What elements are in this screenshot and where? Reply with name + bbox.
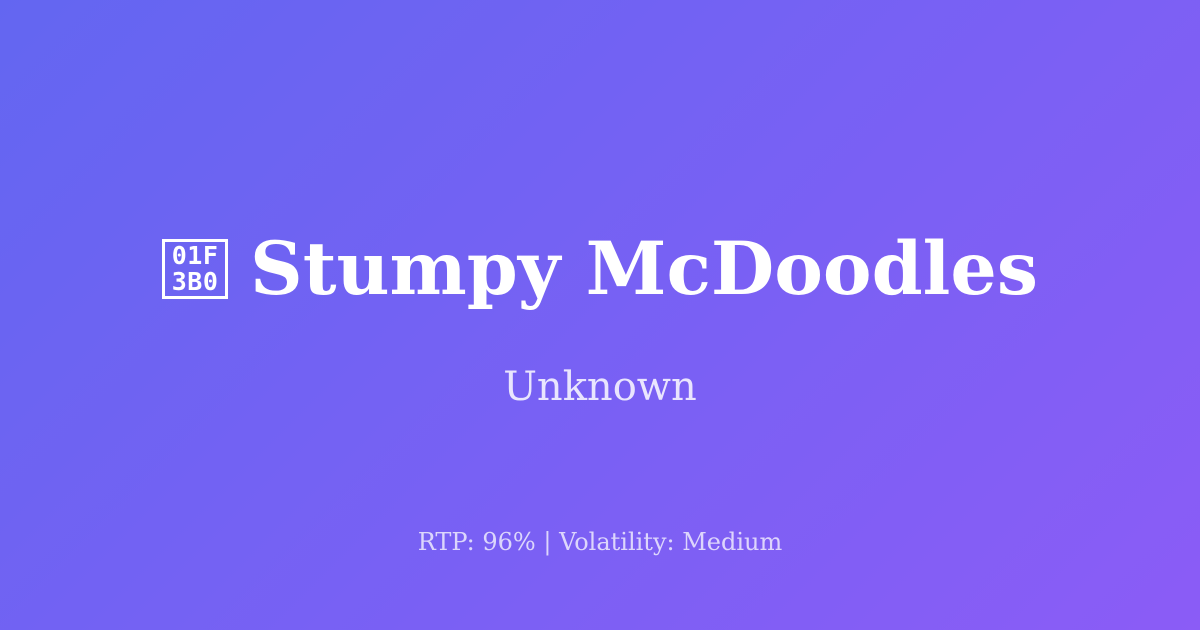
title-row: 01F 3B0 Stumpy McDoodles bbox=[0, 226, 1200, 312]
tofu-codepoint-line-1: 01F bbox=[172, 243, 219, 269]
page-title: Stumpy McDoodles bbox=[250, 226, 1038, 312]
provider-subtitle: Unknown bbox=[0, 362, 1200, 412]
game-stats: RTP: 96% | Volatility: Medium bbox=[0, 526, 1200, 558]
og-card: 01F 3B0 Stumpy McDoodles Unknown RTP: 96… bbox=[0, 0, 1200, 630]
slot-machine-icon: 01F 3B0 bbox=[162, 239, 228, 299]
tofu-codepoint-line-2: 3B0 bbox=[172, 269, 219, 295]
